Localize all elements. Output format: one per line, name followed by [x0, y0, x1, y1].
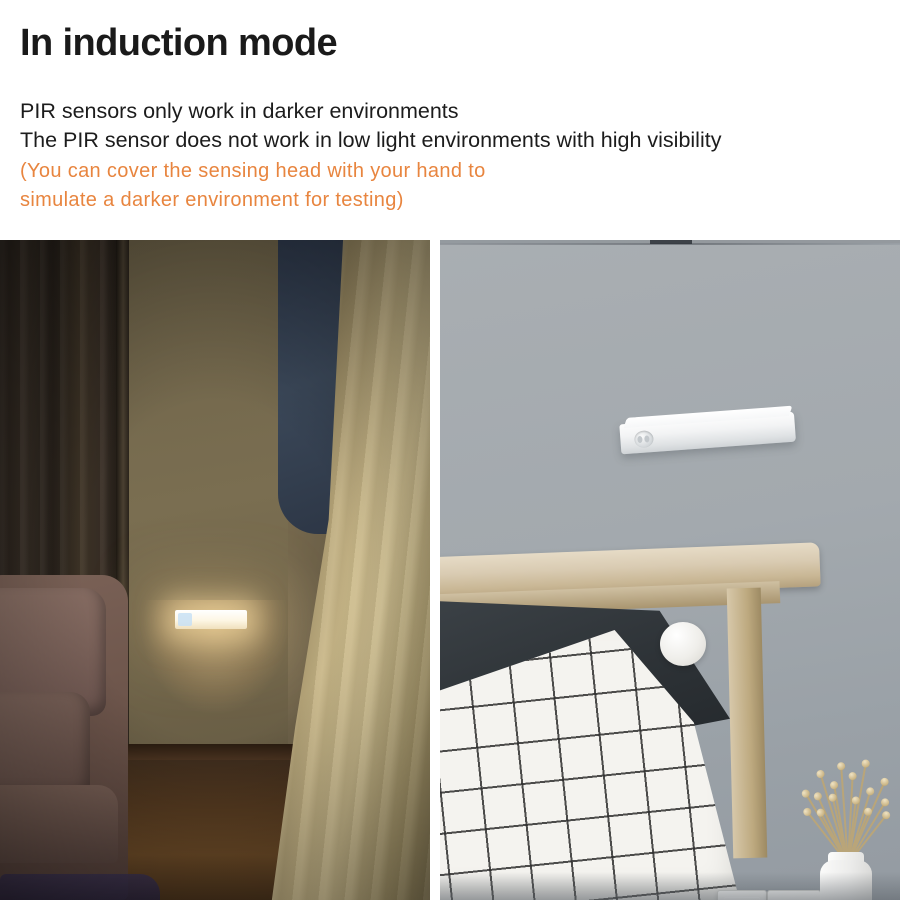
dried-flower-stems	[792, 752, 900, 864]
headboard-post	[727, 588, 768, 859]
subtitle-line-1: PIR sensors only work in darker environm…	[20, 99, 459, 124]
right-photo-panel	[440, 240, 900, 900]
white-pom-pom	[660, 622, 706, 666]
armchair-seat	[0, 785, 118, 863]
led-light-bar-illuminated	[175, 610, 247, 629]
product-feature-page: In induction mode PIR sensors only work …	[0, 0, 900, 900]
floor-rug	[0, 874, 160, 900]
page-title: In induction mode	[20, 22, 337, 65]
armchair-cushion-front	[0, 692, 90, 796]
subtitle-line-2: The PIR sensor does not work in low ligh…	[20, 128, 721, 153]
photo-comparison-band: PIR sensors only sense in darker environ…	[0, 240, 900, 900]
header-section: In induction mode PIR sensors only work …	[0, 0, 900, 240]
left-photo-panel	[0, 240, 430, 900]
ceiling-dark-notch	[650, 240, 692, 244]
right-floor-shadow	[440, 872, 900, 900]
note-line-2: simulate a darker environment for testin…	[20, 189, 404, 212]
note-line-1: (You can cover the sensing head with you…	[20, 160, 486, 183]
